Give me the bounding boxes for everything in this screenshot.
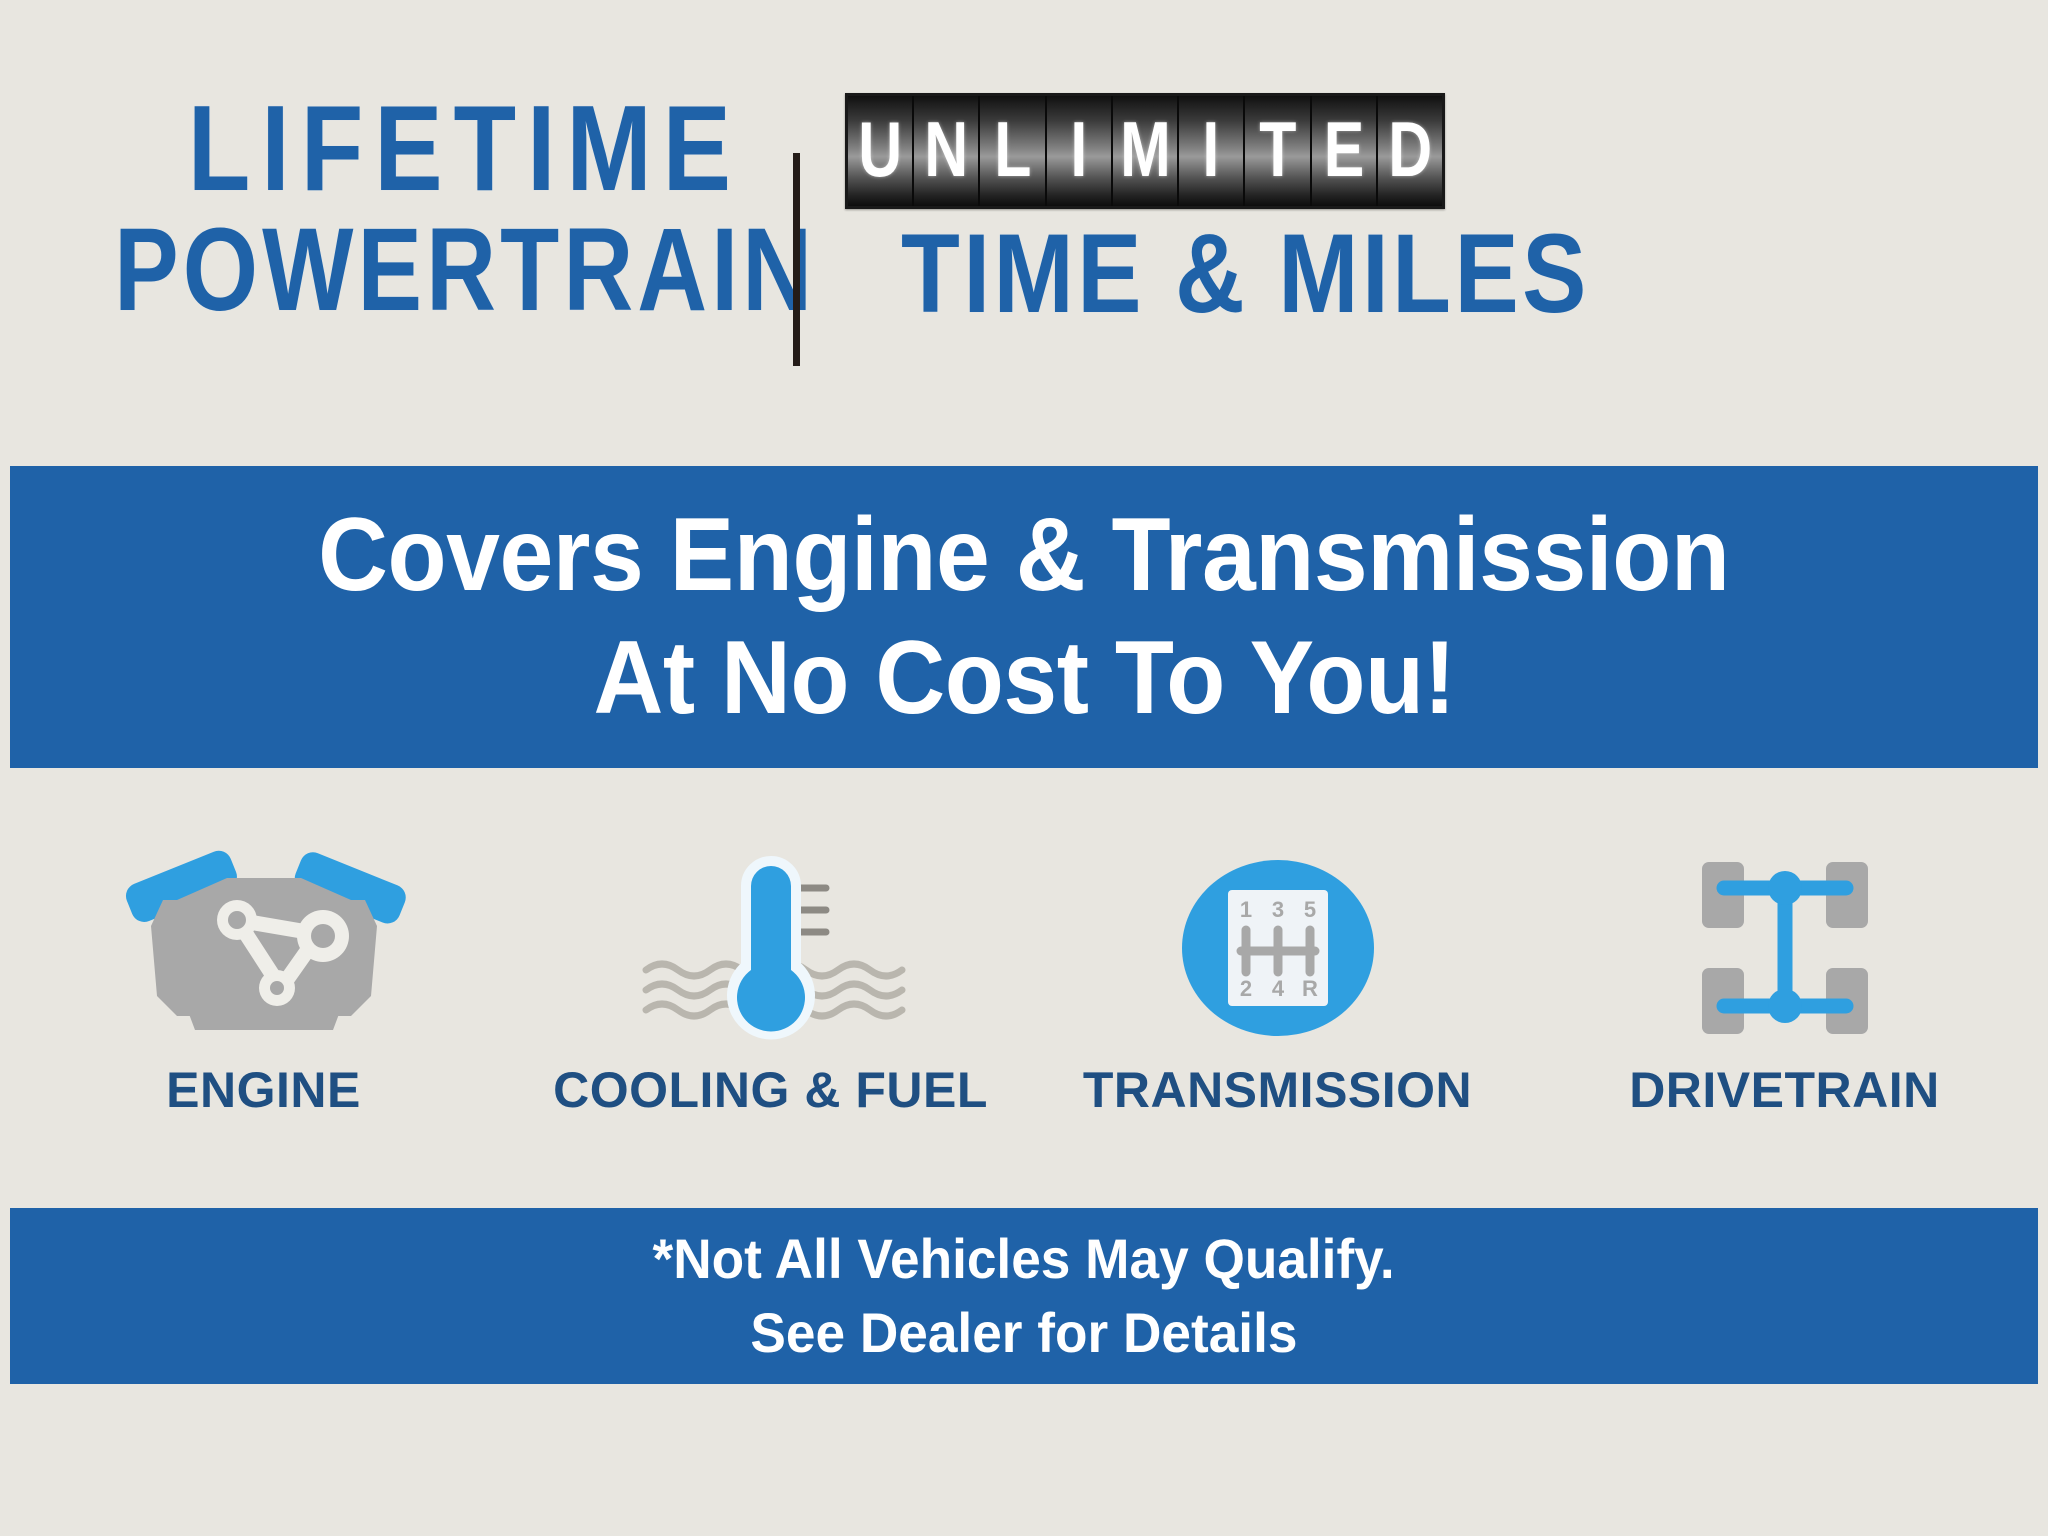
odometer-char: I xyxy=(1203,110,1220,188)
title-powertrain: POWERTRAIN xyxy=(114,211,816,329)
odometer-cell: U xyxy=(848,96,914,206)
odometer-cell: D xyxy=(1378,96,1442,206)
odometer-cell: M xyxy=(1113,96,1179,206)
headline-line-1-text: Covers Engine & Transmission xyxy=(318,494,1729,617)
odometer-cell: I xyxy=(1179,96,1245,206)
gear-numbers-bottom: 2 4 R xyxy=(1239,976,1317,1001)
coverage-feature-row: ENGINE xyxy=(10,840,2038,1170)
feature-transmission: 1 3 5 2 4 R xyxy=(1024,840,1531,1170)
odometer-char: N xyxy=(924,110,968,188)
feature-label-transmission: TRANSMISSION xyxy=(1083,1061,1472,1119)
odometer-cell: T xyxy=(1245,96,1311,206)
drivetrain-icon xyxy=(1640,840,1930,1055)
subtitle-time-and-miles: TIME & MILES xyxy=(845,218,1455,330)
disclaimer-line-1: *Not All Vehicles May Qualify. xyxy=(633,1222,1414,1296)
svg-text:1: 1 xyxy=(1239,897,1251,922)
svg-text:4: 4 xyxy=(1271,976,1284,1001)
odometer-char: D xyxy=(1388,110,1432,188)
title-lifetime: LIFETIME xyxy=(188,91,742,207)
feature-engine: ENGINE xyxy=(10,840,517,1170)
feature-cooling-fuel: COOLING & FUEL xyxy=(517,840,1024,1170)
odometer-char: I xyxy=(1070,110,1087,188)
disclaimer-banner: *Not All Vehicles May Qualify. See Deale… xyxy=(10,1208,2038,1384)
odometer-char: E xyxy=(1323,110,1364,188)
disclaimer-line-2: See Dealer for Details xyxy=(736,1296,1312,1370)
odometer-char: M xyxy=(1120,110,1171,188)
odometer-cell: N xyxy=(914,96,980,206)
front-differential xyxy=(1768,871,1802,905)
svg-text:5: 5 xyxy=(1303,897,1315,922)
subtitle-text: TIME & MILES xyxy=(901,218,1590,330)
main-headline-banner: Covers Engine & Transmission At No Cost … xyxy=(10,466,2038,768)
gear-shifter-icon: 1 3 5 2 4 R xyxy=(1133,840,1423,1055)
header-lockup: LIFETIME POWERTRAIN U N L I M I T E D TI… xyxy=(0,60,2048,360)
powertrain-warranty-poster: LIFETIME POWERTRAIN U N L I M I T E D TI… xyxy=(0,0,2048,1536)
lifetime-powertrain-logo: LIFETIME POWERTRAIN xyxy=(145,60,785,360)
disclaimer-line-2-text: See Dealer for Details xyxy=(750,1296,1297,1370)
feature-drivetrain: DRIVETRAIN xyxy=(1531,840,2038,1170)
feature-label-cooling-fuel: COOLING & FUEL xyxy=(553,1061,988,1119)
vertical-divider xyxy=(793,153,800,366)
odometer-cell: E xyxy=(1312,96,1378,206)
odometer-display: U N L I M I T E D xyxy=(845,93,1445,209)
svg-text:2: 2 xyxy=(1239,976,1251,1001)
headline-line-1: Covers Engine & Transmission xyxy=(265,494,1783,617)
odometer-char: T xyxy=(1259,110,1296,188)
odometer-char: U xyxy=(858,110,902,188)
headline-line-2: At No Cost To You! xyxy=(561,617,1488,740)
feature-label-drivetrain: DRIVETRAIN xyxy=(1629,1061,1940,1119)
svg-text:R: R xyxy=(1302,976,1318,1001)
gear-numbers-top: 1 3 5 xyxy=(1239,897,1315,922)
svg-text:3: 3 xyxy=(1271,897,1283,922)
rear-differential xyxy=(1768,989,1802,1023)
odometer-cell: L xyxy=(980,96,1046,206)
disclaimer-line-1-text: *Not All Vehicles May Qualify. xyxy=(653,1222,1395,1296)
engine-icon xyxy=(119,840,409,1055)
headline-line-2-text: At No Cost To You! xyxy=(593,617,1455,740)
odometer-cell: I xyxy=(1047,96,1113,206)
thermometer-icon xyxy=(626,840,916,1055)
feature-label-engine: ENGINE xyxy=(166,1061,361,1119)
odometer-char: L xyxy=(994,110,1031,188)
